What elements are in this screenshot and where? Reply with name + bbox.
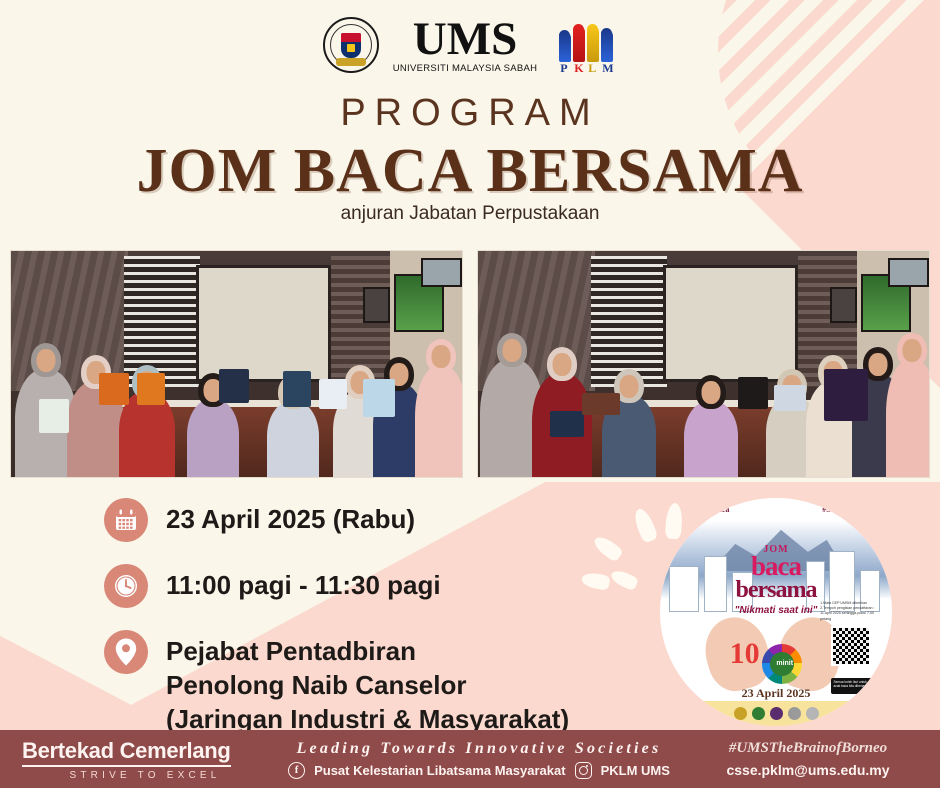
page-subtitle: anjuran Jabatan Perpustakaan (0, 203, 940, 225)
sponsor-logo (752, 707, 765, 720)
poster-sponsor-logos (660, 701, 892, 726)
location-pin-icon (104, 630, 148, 674)
detail-row-location: Pejabat Pentadbiran Penolong Naib Cansel… (104, 630, 569, 736)
pklm-letter: P (560, 61, 567, 76)
detail-line: 23 April 2025 (Rabu) (166, 503, 415, 537)
poster-note-text: 1.Mata CEP UMSM diberikan 2.Tempoh pengi… (820, 601, 878, 623)
detail-line: Pejabat Pentadbiran (166, 635, 569, 669)
poster-date: 23 April 2025 (660, 687, 892, 701)
instagram-icon[interactable] (575, 762, 592, 779)
footer-bar: Bertekad Cemerlang STRIVE TO EXCEL Leadi… (0, 730, 940, 788)
sponsor-logo (770, 707, 783, 720)
brand-tagline: STRIVE TO EXCEL (22, 770, 268, 781)
footer-email[interactable]: csse.pklm@ums.edu.my (690, 762, 926, 778)
ums-wordmark: UMS UNIVERSITI MALAYSIA SABAH (393, 16, 538, 74)
page-title: JOM BACA BERSAMA (0, 136, 940, 207)
instagram-label[interactable]: PKLM UMS (601, 763, 670, 778)
detail-line: 11:00 pagi - 11:30 pagi (166, 569, 441, 603)
sparkle-petal-icon (631, 506, 659, 544)
poster-hashtag-right: #Sabahme.. (822, 505, 862, 514)
calendar-icon (104, 498, 148, 542)
event-photo-2 (477, 250, 930, 478)
poster-root: UMS UNIVERSITI MALAYSIA SABAH P K L M PR… (0, 0, 940, 788)
detail-text-date: 23 April 2025 (Rabu) (166, 498, 415, 537)
page-eyebrow: PROGRAM (0, 92, 940, 135)
poster-hashtag-left: amembaca (692, 505, 729, 514)
ums-logo-subtext: UNIVERSITI MALAYSIA SABAH (393, 64, 538, 74)
detail-text-location: Pejabat Pentadbiran Penolong Naib Cansel… (166, 630, 569, 736)
detail-row-time: 11:00 pagi - 11:30 pagi (104, 564, 569, 608)
pklm-letter: K (574, 61, 583, 76)
sparkle-petal-icon (580, 571, 610, 591)
poster-minit-label: minit (767, 660, 803, 667)
ums-crest-icon (323, 17, 379, 73)
poster-baca-text: baca (660, 555, 892, 578)
circular-event-poster: amembaca #Sabahme.. JOM baca bersama "Ni… (660, 498, 892, 726)
sponsor-logo (788, 707, 801, 720)
footer-center: Leading Towards Innovative Societies f P… (268, 740, 690, 779)
qr-code-icon (831, 626, 871, 666)
brand-name: Bertekad Cemerlang (22, 738, 231, 767)
footer-social-links: f Pusat Kelestarian Libatsama Masyarakat… (268, 762, 690, 779)
sponsor-logo (734, 707, 747, 720)
clock-icon (104, 564, 148, 608)
logo-row: UMS UNIVERSITI MALAYSIA SABAH P K L M (0, 14, 940, 76)
footer-hashtag: #UMSTheBrainofBorneo (690, 740, 926, 757)
poster-number-10: 10 (730, 639, 760, 669)
sparkle-petal-icon (609, 568, 639, 592)
detail-text-time: 11:00 pagi - 11:30 pagi (166, 564, 441, 603)
footer-tagline: Leading Towards Innovative Societies (268, 740, 690, 758)
facebook-icon[interactable]: f (288, 762, 305, 779)
pklm-letter: L (588, 61, 596, 76)
poster-bersama-text: bersama (660, 580, 892, 602)
detail-line: Penolong Naib Canselor (166, 669, 569, 703)
event-photo-1 (10, 250, 463, 478)
sparkle-petal-icon (591, 533, 624, 563)
pklm-letter: M (602, 61, 613, 76)
photo-gallery (10, 250, 930, 478)
sponsor-logo (806, 707, 819, 720)
pklm-logo: P K L M (555, 14, 617, 76)
ums-logo-text: UMS (393, 16, 538, 63)
detail-row-date: 23 April 2025 (Rabu) (104, 498, 569, 542)
facebook-label[interactable]: Pusat Kelestarian Libatsama Masyarakat (314, 763, 565, 778)
event-details: 23 April 2025 (Rabu) 11:00 pagi - 11:30 … (104, 498, 569, 736)
footer-brand: Bertekad Cemerlang STRIVE TO EXCEL (0, 738, 268, 781)
footer-contact: #UMSTheBrainofBorneo csse.pklm@ums.edu.m… (690, 740, 940, 778)
